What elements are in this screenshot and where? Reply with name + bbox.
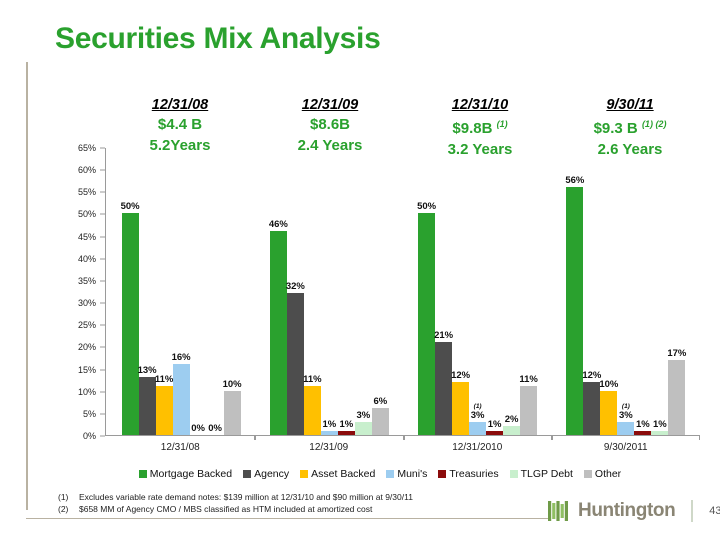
bar-slot: 1%: [321, 148, 338, 435]
bar[interactable]: 50%: [418, 213, 435, 435]
bar-value-label: 21%: [434, 330, 453, 341]
bar[interactable]: (1)3%: [469, 422, 486, 435]
period-amount-value: $9.8B: [452, 120, 492, 137]
bar-value-number: 1%: [488, 419, 502, 430]
bar-value-number: 10%: [599, 379, 618, 390]
bar-value-number: 1%: [653, 419, 667, 430]
securities-mix-chart: 0%5%10%15%20%25%30%35%40%45%50%55%60%65%…: [60, 148, 700, 448]
bar-slot: 16%: [173, 148, 190, 435]
y-axis-tick-label: 40%: [78, 254, 96, 264]
bar-value-number: 56%: [565, 175, 584, 186]
brand-divider: [691, 500, 693, 522]
y-axis-tick-label: 0%: [83, 431, 96, 441]
bar-slot: 50%: [418, 148, 435, 435]
bar-value-label: 6%: [374, 396, 388, 407]
bar-value-number: 3%: [471, 410, 485, 421]
legend-swatch-icon: [510, 470, 518, 478]
left-decorative-rule: [26, 62, 28, 510]
bar[interactable]: 17%: [668, 360, 685, 435]
bar-slot: 11%: [520, 148, 537, 435]
legend-item[interactable]: TLGP Debt: [510, 468, 573, 480]
bar-slot: 6%: [372, 148, 389, 435]
bar-slot: 3%: [355, 148, 372, 435]
bar-slot: 11%: [304, 148, 321, 435]
bar-value-label: 56%: [565, 175, 584, 186]
y-axis-tick-label: 20%: [78, 342, 96, 352]
legend-item[interactable]: Other: [584, 468, 621, 480]
period-amount: $9.8B (1): [405, 114, 555, 139]
period-date: 12/31/10: [405, 96, 555, 114]
bar-value-label: 1%: [636, 419, 650, 430]
bar-value-label: 2%: [505, 414, 519, 425]
period-amount: $8.6B: [255, 114, 405, 135]
period-date: 9/30/11: [555, 96, 705, 114]
bar[interactable]: 1%: [338, 431, 355, 435]
bar-value-number: 3%: [357, 410, 371, 421]
bar-slot: (1)3%: [469, 148, 486, 435]
bar[interactable]: 1%: [321, 431, 338, 435]
bar-slot: 21%: [435, 148, 452, 435]
y-axis-tick-label: 50%: [78, 209, 96, 219]
footnotes: (1)Excludes variable rate demand notes: …: [58, 491, 558, 515]
bar-value-number: 16%: [172, 352, 191, 363]
bar-slot: 13%: [139, 148, 156, 435]
bar-group: 56%12%10%(1)3%1%1%17%: [552, 148, 700, 435]
bar-value-label: 10%: [599, 379, 618, 390]
bar-value-number: 0%: [208, 423, 222, 434]
bar-value-label: 50%: [417, 201, 436, 212]
x-axis-tick-label: 12/31/08: [106, 442, 255, 453]
period-amount-value: $8.6B: [310, 116, 350, 133]
bar-value-label: 17%: [667, 348, 686, 359]
y-axis-tick-label: 45%: [78, 232, 96, 242]
bar-value-label: 3%: [357, 410, 371, 421]
bar-slot: 11%: [156, 148, 173, 435]
chart-legend: Mortgage BackedAgencyAsset BackedMuni'sT…: [100, 468, 660, 480]
bar-slot: 17%: [668, 148, 685, 435]
legend-label: Mortgage Backed: [150, 468, 232, 480]
footnote-text: Excludes variable rate demand notes: $13…: [79, 491, 413, 503]
bar-value-label: 16%: [172, 352, 191, 363]
bar-value-label: 11%: [519, 374, 538, 385]
bar-value-label: 0%: [191, 423, 205, 434]
bar-slot: 1%: [634, 148, 651, 435]
bar-value-footnote-marker: (1): [619, 403, 633, 410]
bar-value-number: 50%: [417, 201, 436, 212]
y-axis-tick-label: 65%: [78, 143, 96, 153]
x-axis-tick-label: 12/31/09: [255, 442, 404, 453]
bar-slot: 1%: [651, 148, 668, 435]
legend-label: Other: [595, 468, 621, 480]
bar-slot: 2%: [503, 148, 520, 435]
bar-slot: 56%: [566, 148, 583, 435]
bar-slot: 1%: [486, 148, 503, 435]
legend-swatch-icon: [584, 470, 592, 478]
bar[interactable]: 46%: [270, 231, 287, 435]
bar[interactable]: 6%: [372, 408, 389, 435]
bar[interactable]: 13%: [139, 377, 156, 435]
legend-item[interactable]: Muni's: [386, 468, 427, 480]
bar-value-number: 3%: [619, 410, 633, 421]
footnote-text: $658 MM of Agency CMO / MBS classified a…: [79, 503, 372, 515]
period-amount-footnote-marker: (1) (2): [642, 119, 667, 129]
legend-item[interactable]: Agency: [243, 468, 289, 480]
legend-label: TLGP Debt: [521, 468, 573, 480]
legend-swatch-icon: [300, 470, 308, 478]
bar[interactable]: 32%: [287, 293, 304, 435]
x-axis-tick-label: 12/31/2010: [403, 442, 552, 453]
legend-item[interactable]: Treasuries: [438, 468, 498, 480]
bar[interactable]: 12%: [583, 382, 600, 435]
period-amount-footnote-marker: (1): [497, 119, 508, 129]
legend-swatch-icon: [139, 470, 147, 478]
bar-value-number: 10%: [223, 379, 242, 390]
bar-value-number: 17%: [667, 348, 686, 359]
bar-slot: 0%: [190, 148, 207, 435]
bar[interactable]: 3%: [355, 422, 372, 435]
bar-value-label: (1)3%: [471, 403, 485, 421]
y-axis-tick-label: 10%: [78, 387, 96, 397]
y-axis-tick-label: 15%: [78, 365, 96, 375]
bar-value-label: 12%: [451, 370, 470, 381]
y-axis-tick-label: 60%: [78, 165, 96, 175]
bar-value-label: 1%: [323, 419, 337, 430]
legend-swatch-icon: [438, 470, 446, 478]
bar-slot: 12%: [583, 148, 600, 435]
bar[interactable]: 11%: [520, 386, 537, 435]
period-amount-value: $9.3 B: [594, 120, 638, 137]
legend-label: Asset Backed: [311, 468, 375, 480]
bar-slot: 12%: [452, 148, 469, 435]
y-axis-tick-label: 35%: [78, 276, 96, 286]
slide-root: Securities Mix Analysis 12/31/08$4.4 B5.…: [0, 0, 720, 540]
bar-value-number: 46%: [269, 219, 288, 230]
y-axis-tick-label: 25%: [78, 320, 96, 330]
bar-value-label: 1%: [653, 419, 667, 430]
bar-value-number: 11%: [155, 374, 174, 385]
bar[interactable]: 1%: [486, 431, 503, 435]
bar-value-label: 46%: [269, 219, 288, 230]
bar-value-label: 10%: [223, 379, 242, 390]
bar-value-footnote-marker: (1): [471, 403, 485, 410]
legend-label: Agency: [254, 468, 289, 480]
bar-slot: 50%: [122, 148, 139, 435]
x-axis-tick-label: 9/30/2011: [552, 442, 701, 453]
y-axis-tick-label: 30%: [78, 298, 96, 308]
bar[interactable]: 1%: [651, 431, 668, 435]
bar-slot: 0%: [207, 148, 224, 435]
bar-value-label: 1%: [340, 419, 354, 430]
footnote: (2)$658 MM of Agency CMO / MBS classifie…: [58, 503, 558, 515]
footnote-marker: (1): [58, 491, 74, 503]
huntington-pennant-icon: [548, 500, 568, 522]
period-date: 12/31/08: [105, 96, 255, 114]
bar[interactable]: 56%: [566, 187, 583, 435]
bar-slot: 32%: [287, 148, 304, 435]
bar-value-number: 1%: [636, 419, 650, 430]
legend-label: Muni's: [397, 468, 427, 480]
legend-label: Treasuries: [449, 468, 498, 480]
bar-slot: 10%: [224, 148, 241, 435]
bar[interactable]: 21%: [435, 342, 452, 435]
bar-slot: 10%: [600, 148, 617, 435]
bar-value-label: 11%: [155, 374, 174, 385]
bar[interactable]: 10%: [600, 391, 617, 435]
bar-value-label: 1%: [488, 419, 502, 430]
period-amount: $4.4 B: [105, 114, 255, 135]
bar[interactable]: 12%: [452, 382, 469, 435]
bar-value-number: 12%: [451, 370, 470, 381]
y-axis-labels: 0%5%10%15%20%25%30%35%40%45%50%55%60%65%: [60, 148, 100, 436]
bar-value-number: 0%: [191, 423, 205, 434]
bar-value-number: 6%: [374, 396, 388, 407]
page-number: 43: [709, 505, 720, 517]
bar-value-number: 21%: [434, 330, 453, 341]
bar[interactable]: 10%: [224, 391, 241, 435]
bar-group: 46%32%11%1%1%3%6%: [255, 148, 403, 435]
page-title: Securities Mix Analysis: [55, 22, 380, 56]
bar-slot: 46%: [270, 148, 287, 435]
legend-swatch-icon: [386, 470, 394, 478]
brand-footer: Huntington 43: [548, 500, 720, 522]
bar[interactable]: 50%: [122, 213, 139, 435]
bar[interactable]: 11%: [304, 386, 321, 435]
bar-value-label: (1)3%: [619, 403, 633, 421]
bar[interactable]: 16%: [173, 364, 190, 435]
bar-value-label: 11%: [303, 374, 322, 385]
bar-group: 50%21%12%(1)3%1%2%11%: [404, 148, 552, 435]
bar-value-label: 32%: [286, 281, 305, 292]
bar-groups: 50%13%11%16%0%0%10%46%32%11%1%1%3%6%50%2…: [107, 148, 700, 435]
y-axis-tick-label: 5%: [83, 409, 96, 419]
period-amount: $9.3 B (1) (2): [555, 114, 705, 139]
bar-value-number: 13%: [138, 365, 157, 376]
bar[interactable]: 2%: [503, 426, 520, 435]
bar[interactable]: 11%: [156, 386, 173, 435]
bar-value-number: 11%: [519, 374, 538, 385]
footnote: (1)Excludes variable rate demand notes: …: [58, 491, 558, 503]
period-amount-value: $4.4 B: [158, 116, 202, 133]
bar-value-number: 11%: [303, 374, 322, 385]
bar-value-label: 13%: [138, 365, 157, 376]
legend-item[interactable]: Mortgage Backed: [139, 468, 232, 480]
bar-value-number: 50%: [121, 201, 140, 212]
x-axis-labels: 12/31/0812/31/0912/31/20109/30/2011: [106, 442, 700, 453]
bar[interactable]: (1)3%: [617, 422, 634, 435]
bar[interactable]: 1%: [634, 431, 651, 435]
bar-value-number: 1%: [340, 419, 354, 430]
bar-slot: 1%: [338, 148, 355, 435]
legend-item[interactable]: Asset Backed: [300, 468, 375, 480]
bar-value-label: 0%: [208, 423, 222, 434]
bar-slot: (1)3%: [617, 148, 634, 435]
bar-value-number: 2%: [505, 414, 519, 425]
brand-name: Huntington: [578, 500, 675, 522]
plot-area: 50%13%11%16%0%0%10%46%32%11%1%1%3%6%50%2…: [105, 148, 700, 436]
y-axis-tick-label: 55%: [78, 187, 96, 197]
bar-group: 50%13%11%16%0%0%10%: [107, 148, 255, 435]
period-date: 12/31/09: [255, 96, 405, 114]
bar-value-number: 1%: [323, 419, 337, 430]
bar-value-number: 32%: [286, 281, 305, 292]
footnote-marker: (2): [58, 503, 74, 515]
footer-divider: [26, 518, 548, 519]
bar-value-label: 50%: [121, 201, 140, 212]
legend-swatch-icon: [243, 470, 251, 478]
